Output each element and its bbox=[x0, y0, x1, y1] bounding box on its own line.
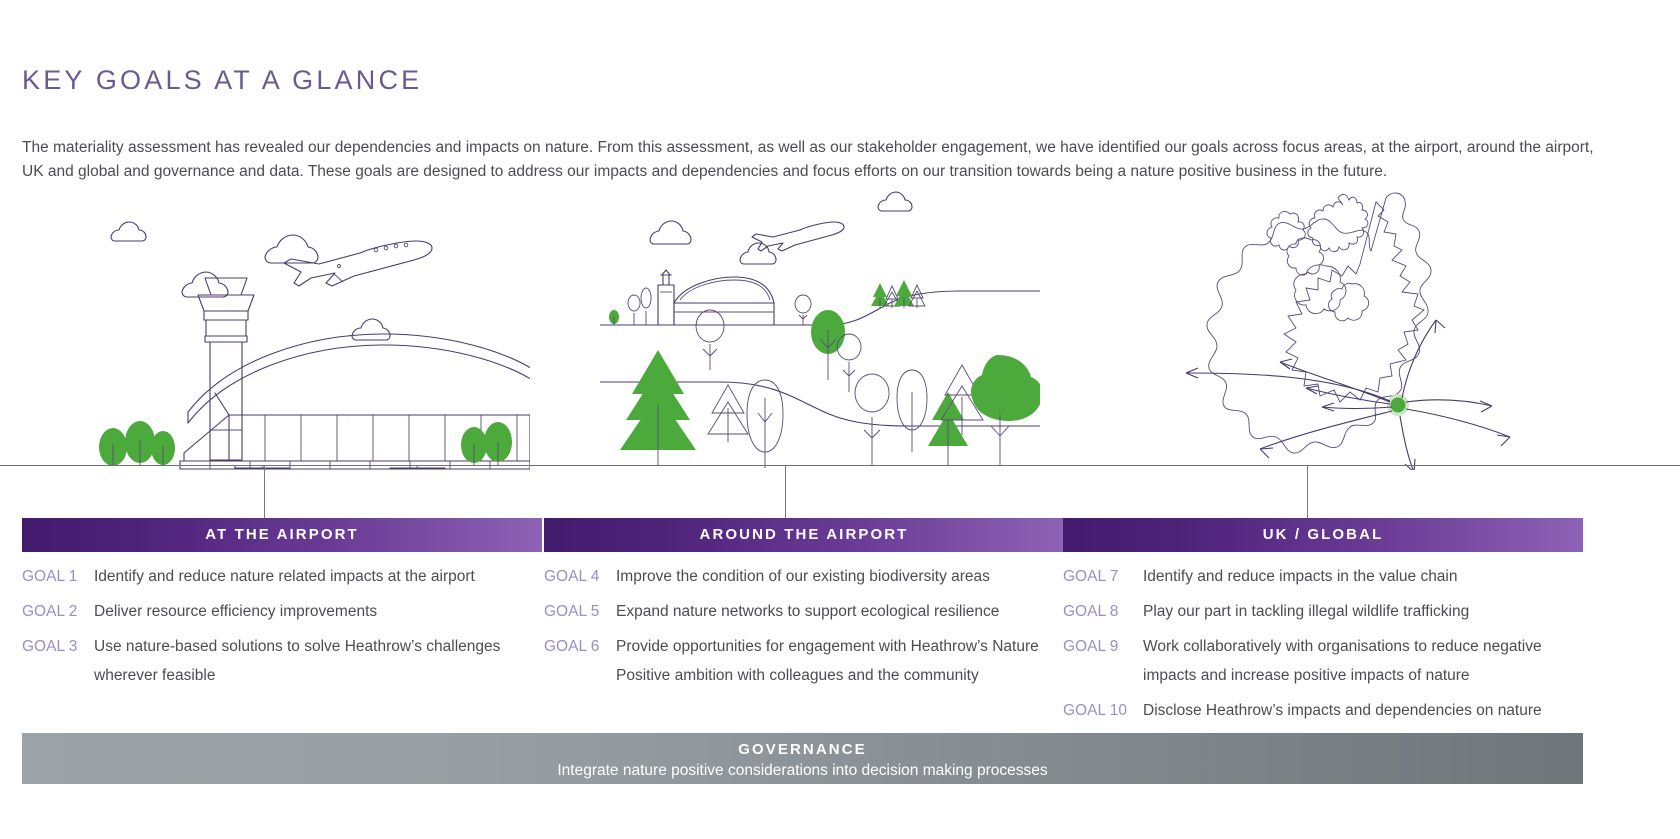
goal-row[interactable]: GOAL 5 Expand nature networks to support… bbox=[544, 597, 1064, 626]
goal-row[interactable]: GOAL 9 Work collaboratively with organis… bbox=[1063, 632, 1583, 690]
goal-list-uk-global: GOAL 7 Identify and reduce impacts in th… bbox=[1063, 562, 1583, 725]
goal-tag: GOAL 3 bbox=[22, 632, 94, 661]
cloud-icon bbox=[352, 319, 390, 340]
governance-title: GOVERNANCE bbox=[22, 739, 1583, 760]
goal-text: Deliver resource efficiency improvements bbox=[94, 597, 542, 626]
goal-tag: GOAL 1 bbox=[22, 562, 94, 591]
goal-text: Provide opportunities for engagement wit… bbox=[616, 632, 1064, 690]
goal-text: Disclose Heathrow’s impacts and dependen… bbox=[1143, 696, 1583, 725]
goal-tag: GOAL 10 bbox=[1063, 696, 1143, 725]
column-at-the-airport: AT THE AIRPORT GOAL 1 Identify and reduc… bbox=[22, 518, 542, 696]
intro-line-1: The materiality assessment has revealed … bbox=[22, 136, 1582, 160]
pine-tree-icon bbox=[620, 350, 696, 465]
around-airport-landscape-illustration bbox=[600, 180, 1040, 470]
connector-line-uk-global bbox=[1307, 465, 1308, 518]
tree-icon bbox=[855, 374, 889, 465]
goal-tag: GOAL 9 bbox=[1063, 632, 1143, 661]
tree-icon bbox=[484, 422, 512, 466]
goal-row[interactable]: GOAL 8 Play our part in tackling illegal… bbox=[1063, 597, 1583, 626]
goal-row[interactable]: GOAL 4 Improve the condition of our exis… bbox=[544, 562, 1064, 591]
illustration-band bbox=[0, 180, 1680, 470]
page-root: KEY GOALS AT A GLANCE The materiality as… bbox=[0, 0, 1680, 839]
column-around-the-airport: AROUND THE AIRPORT GOAL 4 Improve the co… bbox=[544, 518, 1064, 696]
tree-icon bbox=[894, 280, 914, 308]
cloud-icon bbox=[111, 222, 146, 241]
tree-icon bbox=[628, 295, 640, 325]
goal-row[interactable]: GOAL 3 Use nature-based solutions to sol… bbox=[22, 632, 542, 690]
goal-tag: GOAL 6 bbox=[544, 632, 616, 661]
column-uk-global: UK / GLOBAL GOAL 7 Identify and reduce i… bbox=[1063, 518, 1583, 731]
goal-tag: GOAL 2 bbox=[22, 597, 94, 626]
tree-icon bbox=[747, 380, 783, 468]
uk-map-illustration bbox=[1140, 180, 1600, 470]
tree-icon bbox=[461, 427, 487, 466]
goal-tag: GOAL 7 bbox=[1063, 562, 1143, 591]
tree-icon bbox=[609, 310, 619, 325]
goal-tag: GOAL 8 bbox=[1063, 597, 1143, 626]
control-tower-icon bbox=[198, 278, 254, 460]
airport-terminal-illustration bbox=[60, 180, 530, 470]
page-title: KEY GOALS AT A GLANCE bbox=[22, 65, 422, 96]
tree-icon bbox=[641, 288, 651, 325]
tree-icon bbox=[871, 283, 889, 308]
goal-row[interactable]: GOAL 6 Provide opportunities for engagem… bbox=[544, 632, 1064, 690]
hangar-building bbox=[658, 270, 774, 325]
cloud-icon bbox=[182, 272, 228, 297]
ground-baseline bbox=[0, 465, 1680, 466]
goal-text: Use nature-based solutions to solve Heat… bbox=[94, 632, 542, 690]
tree-icon bbox=[971, 355, 1040, 465]
aeroplane-icon bbox=[752, 222, 844, 251]
goal-text: Play our part in tackling illegal wildli… bbox=[1143, 597, 1583, 626]
tree-icon bbox=[696, 310, 724, 370]
tree-icon bbox=[811, 310, 845, 380]
cloud-icon bbox=[740, 243, 776, 264]
pine-tree-icon bbox=[708, 385, 748, 442]
goal-list-around-the-airport: GOAL 4 Improve the condition of our exis… bbox=[544, 562, 1064, 690]
goal-tag: GOAL 5 bbox=[544, 597, 616, 626]
goal-text: Work collaboratively with organisations … bbox=[1143, 632, 1583, 690]
heathrow-hub-dot bbox=[1387, 394, 1409, 416]
tree-icon bbox=[897, 370, 927, 452]
goal-list-at-the-airport: GOAL 1 Identify and reduce nature relate… bbox=[22, 562, 542, 690]
goal-row[interactable]: GOAL 10 Disclose Heathrow’s impacts and … bbox=[1063, 696, 1583, 725]
goal-text: Identify and reduce nature related impac… bbox=[94, 562, 542, 591]
tree-icon bbox=[151, 431, 175, 466]
goal-tag: GOAL 4 bbox=[544, 562, 616, 591]
goal-row[interactable]: GOAL 7 Identify and reduce impacts in th… bbox=[1063, 562, 1583, 591]
tree-icon bbox=[795, 295, 811, 325]
cloud-icon bbox=[650, 221, 691, 244]
tree-icon bbox=[99, 428, 127, 466]
route-arrows bbox=[1186, 320, 1510, 470]
goal-text: Improve the condition of our existing bi… bbox=[616, 562, 1064, 591]
goal-row[interactable]: GOAL 1 Identify and reduce nature relate… bbox=[22, 562, 542, 591]
goal-text: Expand nature networks to support ecolog… bbox=[616, 597, 1064, 626]
connector-line-around-the-airport bbox=[785, 465, 786, 518]
column-header-around-the-airport: AROUND THE AIRPORT bbox=[544, 518, 1064, 552]
column-header-at-the-airport: AT THE AIRPORT bbox=[22, 518, 542, 552]
connector-line-at-the-airport bbox=[264, 465, 265, 518]
goal-text: Identify and reduce impacts in the value… bbox=[1143, 562, 1583, 591]
cloud-icon bbox=[878, 192, 912, 211]
intro-paragraph: The materiality assessment has revealed … bbox=[22, 136, 1582, 184]
goal-row[interactable]: GOAL 2 Deliver resource efficiency impro… bbox=[22, 597, 542, 626]
column-header-uk-global: UK / GLOBAL bbox=[1063, 518, 1583, 552]
governance-banner: GOVERNANCE Integrate nature positive con… bbox=[22, 733, 1583, 784]
tree-icon bbox=[125, 421, 155, 466]
governance-subtitle: Integrate nature positive considerations… bbox=[22, 760, 1583, 782]
